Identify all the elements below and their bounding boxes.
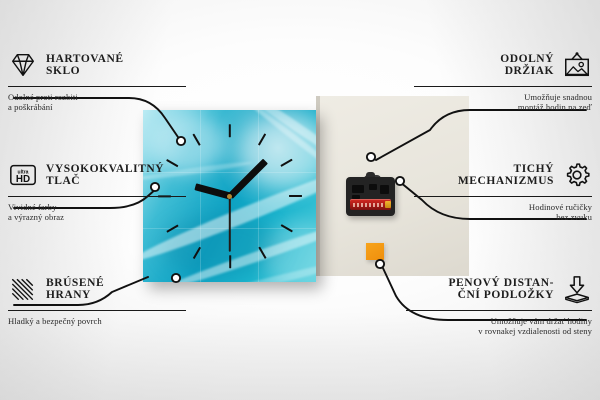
feature-description-line-2: v rovnakej vzdialenosti od steny — [406, 326, 592, 336]
feature-description-line-1: Odolné proti rozbiti — [8, 92, 186, 102]
product-infographic: HARTOVANÉ SKLO Odolné proti rozbiti a po… — [0, 0, 600, 400]
feature-ground-edges: BRÚSENÉ HRANY Hladký a bezpečný povrch — [8, 272, 186, 326]
feature-description-line-1: Umožňuje snadnou — [414, 92, 592, 102]
ground-edges-icon — [8, 274, 38, 304]
feature-durable-holder: ODOLNÝ DRŽIAK Umožňuje snadnou montáž ho… — [414, 48, 592, 113]
clock-center-pin — [227, 194, 232, 199]
foam-spacer — [366, 243, 384, 260]
feature-description-line-2: montáž hodin na zeď — [414, 102, 592, 112]
wall-panel-edge — [316, 96, 320, 276]
clock-tick — [228, 124, 230, 137]
movement-battery-label — [353, 203, 383, 207]
feature-title: BRÚSENÉ HRANY — [46, 277, 104, 302]
feature-divider — [414, 196, 592, 197]
feature-header: ultra HD VYSOKOKVALITNÝ TLAČ — [8, 158, 186, 192]
feature-description-line-2: a poškrábání — [8, 102, 186, 112]
feature-description-line-1: Hodinové ručičky — [414, 202, 592, 212]
feature-header: TICHÝ MECHANIZMUS — [414, 158, 592, 192]
gear-icon — [562, 160, 592, 190]
feature-description-line-1: Vividné farby — [8, 202, 186, 212]
feature-divider — [8, 196, 186, 197]
movement-battery-terminal — [385, 201, 391, 208]
movement-notch — [352, 185, 364, 193]
feature-title: ODOLNÝ DRŽIAK — [500, 53, 554, 78]
feature-header: HARTOVANÉ SKLO — [8, 48, 186, 82]
feature-header: PENOVÝ DISTAN- ČNÍ PODLOŽKY — [406, 272, 592, 306]
feature-title: TICHÝ MECHANIZMUS — [458, 163, 554, 188]
clock-second-hand — [229, 196, 231, 252]
feature-header: BRÚSENÉ HRANY — [8, 272, 186, 306]
feature-divider — [8, 310, 186, 311]
diamond-icon — [8, 50, 38, 80]
feature-header: ODOLNÝ DRŽIAK — [414, 48, 592, 82]
svg-text:HD: HD — [16, 174, 30, 185]
movement-notch — [369, 184, 377, 190]
foam-pad-icon — [562, 274, 592, 304]
picture-hanger-icon — [562, 50, 592, 80]
feature-description-line-1: Hladký a bezpečný povrch — [8, 316, 186, 326]
movement-notch — [380, 185, 389, 194]
feature-silent-mechanism: TICHÝ MECHANIZMUS Hodinové ručičky bez z… — [414, 158, 592, 223]
ultra-hd-icon: ultra HD — [8, 160, 38, 190]
clock-movement — [346, 172, 395, 216]
feature-divider — [8, 86, 186, 87]
feature-title: HARTOVANÉ SKLO — [46, 53, 124, 78]
clock-tick — [228, 255, 230, 268]
feature-title: PENOVÝ DISTAN- ČNÍ PODLOŽKY — [448, 277, 554, 302]
feature-description-line-2: bez zvuku — [414, 212, 592, 222]
feature-description-line-1: Umožňuje vám držať hodiny — [406, 316, 592, 326]
feature-high-quality-print: ultra HD VYSOKOKVALITNÝ TLAČ Vividné far… — [8, 158, 186, 223]
feature-divider — [406, 310, 592, 311]
feature-foam-spacers: PENOVÝ DISTAN- ČNÍ PODLOŽKY Umožňuje vám… — [406, 272, 592, 337]
feature-divider — [414, 86, 592, 87]
feature-description-line-2: a výrazný obraz — [8, 212, 186, 222]
feature-title: VYSOKOKVALITNÝ TLAČ — [46, 163, 164, 188]
feature-hardened-glass: HARTOVANÉ SKLO Odolné proti rozbiti a po… — [8, 48, 186, 113]
